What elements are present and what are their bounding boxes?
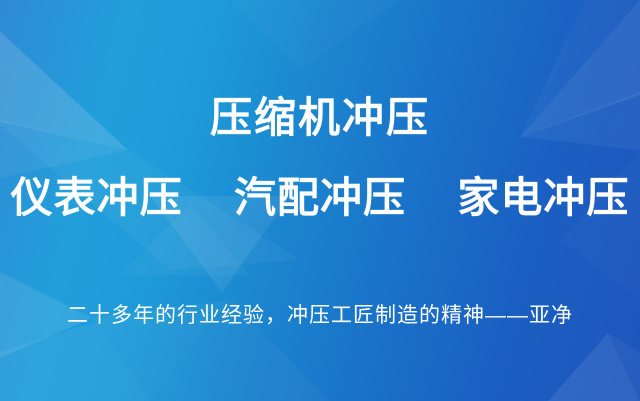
service-item-instrument: 仪表冲压: [11, 174, 183, 221]
service-item-home-appliance: 家电冲压: [457, 174, 629, 221]
banner-title-primary: 压缩机冲压: [0, 96, 640, 140]
banner-tagline: 二十多年的行业经验，冲压工匠制造的精神——亚净: [0, 303, 640, 328]
banner-title-secondary: 仪表冲压 汽配冲压 家电冲压: [0, 176, 640, 220]
promo-banner: 压缩机冲压 仪表冲压 汽配冲压 家电冲压 二十多年的行业经验，冲压工匠制造的精神…: [0, 0, 640, 401]
service-item-auto-parts: 汽配冲压: [234, 174, 406, 221]
banner-text-layer: 压缩机冲压 仪表冲压 汽配冲压 家电冲压 二十多年的行业经验，冲压工匠制造的精神…: [0, 0, 640, 401]
